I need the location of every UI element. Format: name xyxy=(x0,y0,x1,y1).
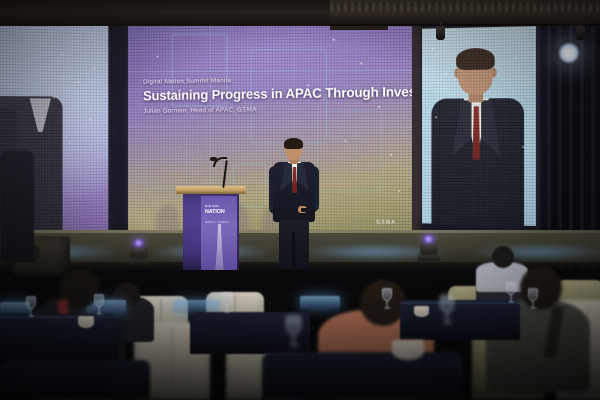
laptop-screen-glow xyxy=(300,296,340,309)
cam-speaker-hair xyxy=(456,48,495,70)
microphone-icon xyxy=(210,157,217,161)
keynote-speaker xyxy=(268,140,320,268)
stage-wash-light xyxy=(470,244,600,260)
ceiling-spotlight-icon xyxy=(576,26,585,40)
presentation-clicker xyxy=(301,208,308,212)
table-highlight xyxy=(400,302,520,304)
slide-text-block: Digital Nation Summit Manila Sustaining … xyxy=(143,74,398,114)
podium-branding-panel: DIGITAL NATION MANILA · SUMMIT xyxy=(201,196,237,270)
coffee-cup xyxy=(392,340,424,360)
gsma-watermark: GSMA xyxy=(376,220,396,226)
wine-glass xyxy=(94,294,104,307)
wine-glass xyxy=(528,288,538,301)
audience-table xyxy=(0,314,118,360)
circuit-graphic xyxy=(317,110,382,192)
right-camera-screen xyxy=(422,26,536,226)
coffee-cup xyxy=(414,306,429,317)
wine-glass xyxy=(286,316,301,336)
podium-word-text: NATION xyxy=(205,209,225,215)
ceiling-spotlight-icon xyxy=(436,26,445,40)
table-highlight xyxy=(0,316,118,318)
wine-glass xyxy=(506,282,516,295)
podium: DIGITAL NATION MANILA · SUMMIT xyxy=(180,186,242,270)
foreground-table xyxy=(262,352,462,400)
coffee-cup xyxy=(78,316,94,328)
speaker-tie xyxy=(292,167,297,193)
speaker-hair xyxy=(284,138,303,149)
audience-head xyxy=(492,246,514,268)
foreground-table xyxy=(0,360,150,400)
podium-top-surface xyxy=(176,186,246,194)
audience-head xyxy=(520,266,562,310)
side-stage-person xyxy=(0,150,34,262)
ceiling-slats xyxy=(330,2,600,12)
podium-logo-text: DIGITAL xyxy=(205,204,220,208)
wine-glass xyxy=(26,296,36,309)
stage-spotlight-flare xyxy=(558,42,580,64)
speaker-leg-gap xyxy=(292,232,295,268)
moving-head-light xyxy=(128,258,150,265)
monument-graphic xyxy=(214,224,225,270)
wine-glass xyxy=(440,295,454,313)
wine-glass xyxy=(382,288,392,301)
wine-glass xyxy=(222,292,232,305)
slide-title: Sustaining Progress in APAC Through Inve… xyxy=(143,85,398,103)
conference-photo: Digital Nation Summit Manila Sustaining … xyxy=(0,0,600,400)
moving-head-light xyxy=(418,254,440,261)
podium-date-text: MANILA · SUMMIT xyxy=(205,221,229,224)
